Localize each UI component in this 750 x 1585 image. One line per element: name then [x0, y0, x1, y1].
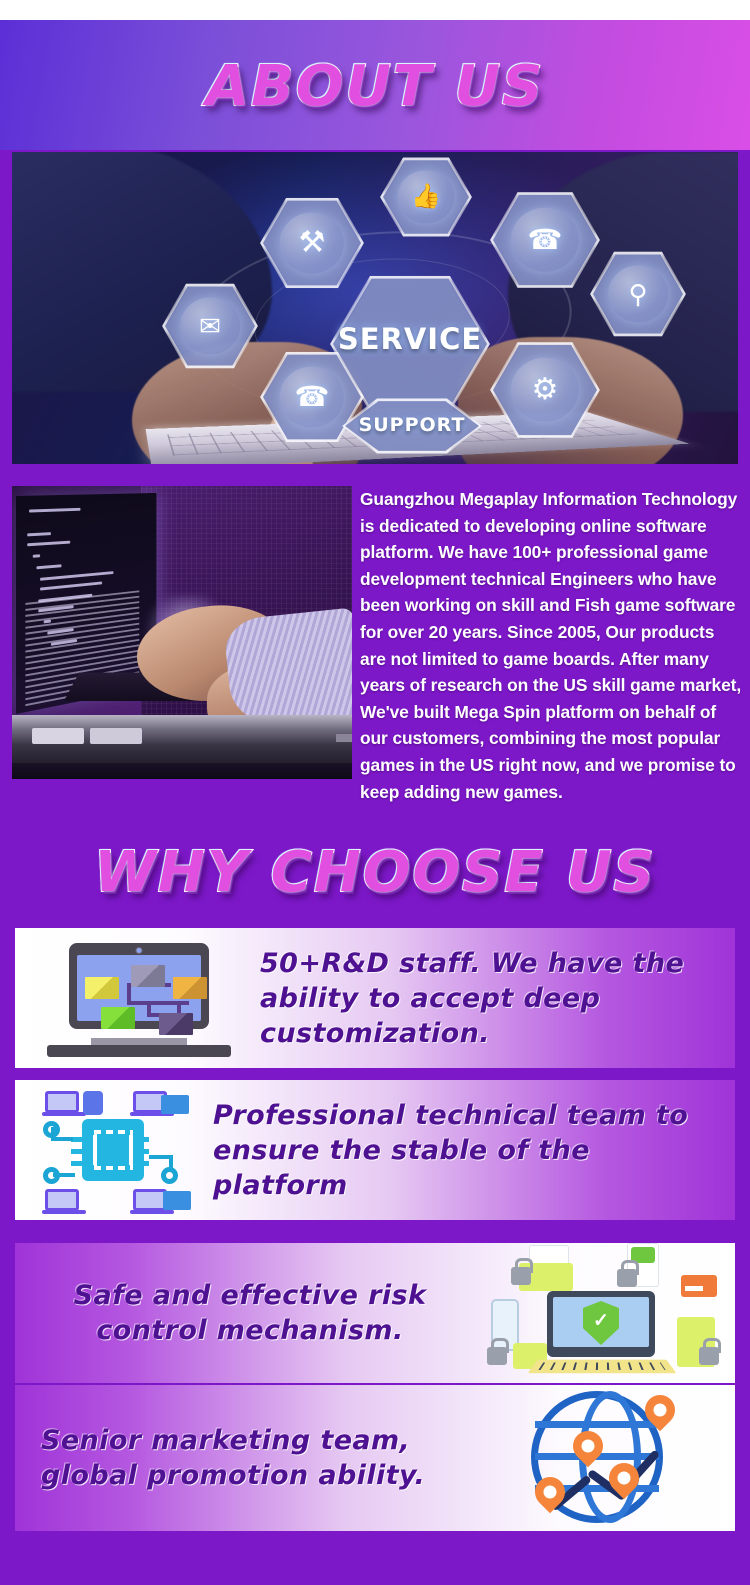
- wrench-screwdriver-icon: ⚒: [299, 228, 326, 258]
- floor-strip: [12, 763, 352, 779]
- laptop-flowchart-icon: [31, 937, 246, 1059]
- magnifier-icon: ⚲: [628, 281, 647, 307]
- security-shield-icon: [467, 1243, 735, 1383]
- cpu-network-icon: [27, 1085, 199, 1215]
- page-title-why-choose-us: WHY CHOOSE US: [0, 842, 750, 904]
- hero-bottom-label: SUPPORT: [342, 414, 482, 436]
- envelope-icon: ✉: [199, 313, 221, 339]
- hero-center-label: SERVICE: [330, 322, 490, 356]
- feature-card-marketing-team[interactable]: Senior marketing team, global promotion …: [15, 1385, 735, 1531]
- headset-icon: ☎: [528, 226, 563, 254]
- hero-service-image: SERVICE 👍 ⚒ ☎ ✉ ☎ ⚙: [12, 152, 738, 464]
- shirt-sleeve: [223, 608, 352, 731]
- feature-card-text: 50+R&D staff. We have the ability to acc…: [260, 946, 730, 1051]
- top-white-strip: [0, 0, 750, 20]
- thumbs-up-icon: 👍: [411, 185, 441, 209]
- gears-icon: ⚙: [532, 375, 559, 405]
- feature-card-text: Professional technical team to ensure th…: [213, 1098, 713, 1203]
- page-title-about-us: ABOUT US: [0, 56, 750, 118]
- about-paragraph: Guangzhou Megaplay Information Technolog…: [360, 486, 742, 805]
- feature-card-rd-staff[interactable]: 50+R&D staff. We have the ability to acc…: [15, 928, 735, 1068]
- about-code-photo: [12, 486, 352, 779]
- feature-card-technical-team[interactable]: Professional technical team to ensure th…: [15, 1080, 735, 1220]
- feature-card-text: Senior marketing team, global promotion …: [41, 1423, 477, 1493]
- feature-card-risk-control[interactable]: Safe and effective risk control mechanis…: [15, 1243, 735, 1383]
- phone-icon: ☎: [295, 383, 330, 411]
- globe-location-pins-icon: [485, 1385, 735, 1531]
- server-rail: [12, 715, 352, 765]
- feature-card-text: Safe and effective risk control mechanis…: [41, 1278, 459, 1348]
